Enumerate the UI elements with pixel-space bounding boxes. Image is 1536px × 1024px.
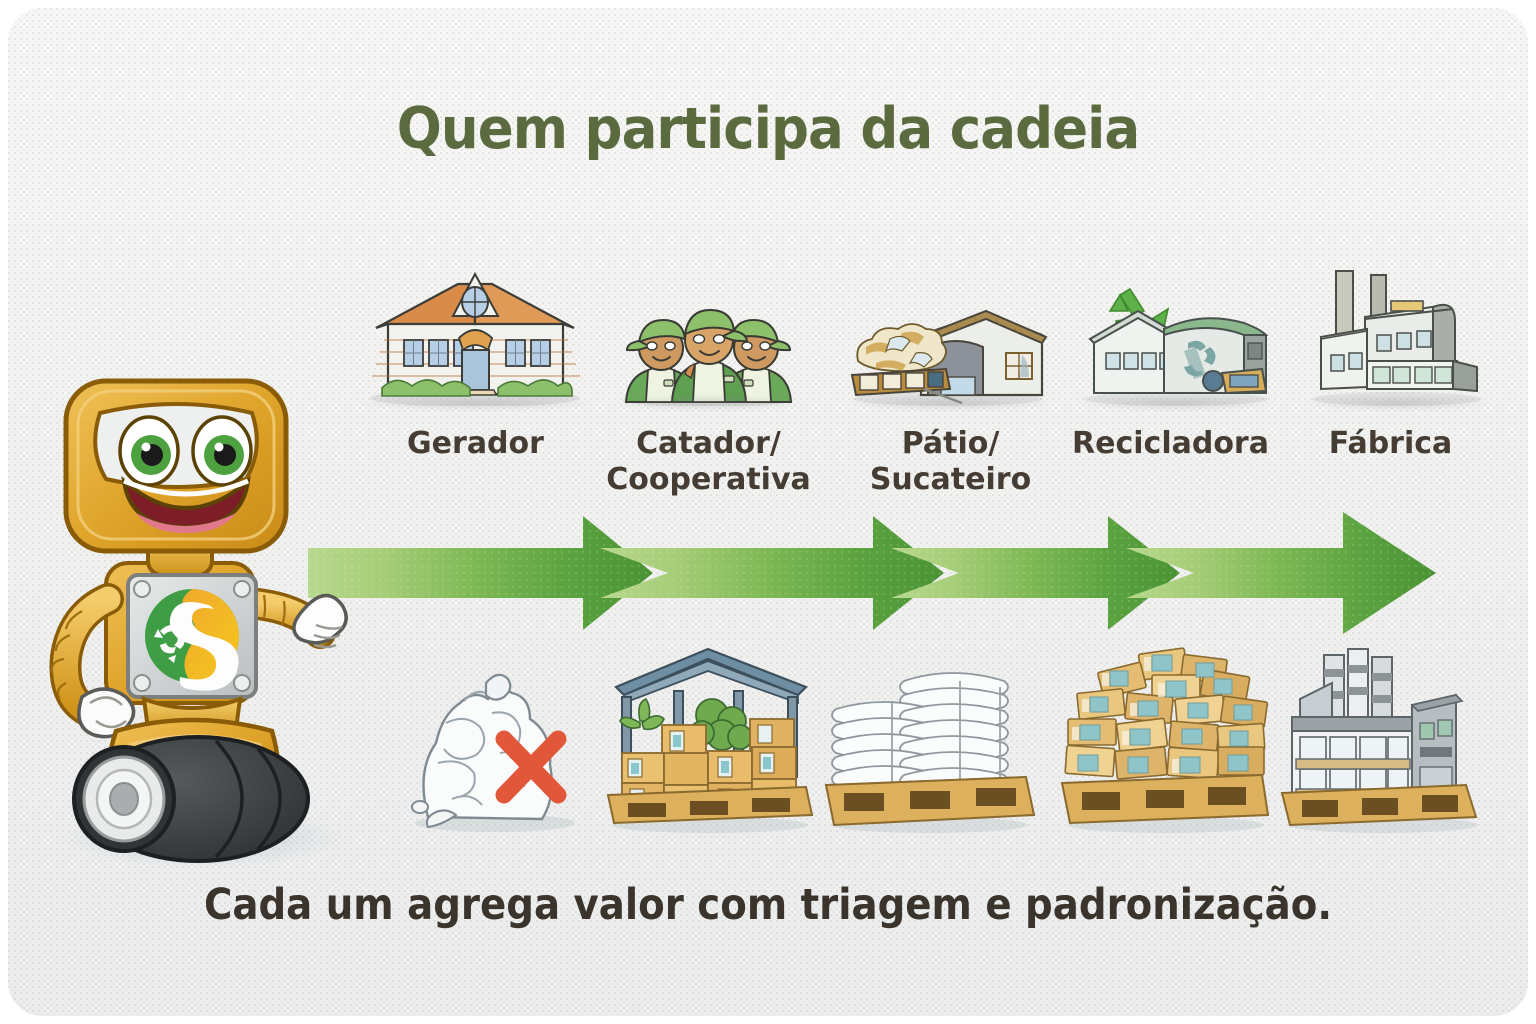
icon-ground-shadow <box>842 394 1055 412</box>
stage-label-fabrica: Fábrica <box>1298 426 1483 462</box>
stage-icon-patio <box>846 291 1051 406</box>
stage-label-catador: Catador/ Cooperativa <box>596 426 821 498</box>
stage-label-gerador: Gerador <box>363 426 588 462</box>
stage-icon-fabrica <box>1305 261 1490 406</box>
stage-icon-catador <box>616 294 801 406</box>
icon-ground-shadow <box>353 394 597 412</box>
footer-caption: Cada um agrega valor com triagem e padro… <box>84 880 1452 930</box>
stage-label-patio: Pátio/ Sucateiro <box>843 426 1058 498</box>
stage-product-recicladora <box>1056 643 1276 833</box>
infographic-card: Quem participa da cadeia <box>8 8 1528 1016</box>
page-title: Quem participa da cadeia <box>61 96 1475 162</box>
stage-product-fabrica <box>1276 643 1491 833</box>
recycling-robot-mascot <box>48 363 348 873</box>
stage-icon-recicladora <box>1076 281 1276 406</box>
icon-ground-shadow <box>612 394 804 412</box>
stage-product-patio <box>820 653 1040 833</box>
icon-ground-shadow <box>1072 394 1280 412</box>
stage-product-catador <box>600 643 820 833</box>
icon-ground-shadow <box>1301 394 1493 412</box>
stage-label-recicladora: Recicladora <box>1063 426 1278 462</box>
process-flow-arrow <box>308 508 1438 638</box>
stage-icon-gerador <box>358 266 593 406</box>
stage-product-gerador <box>400 653 590 833</box>
